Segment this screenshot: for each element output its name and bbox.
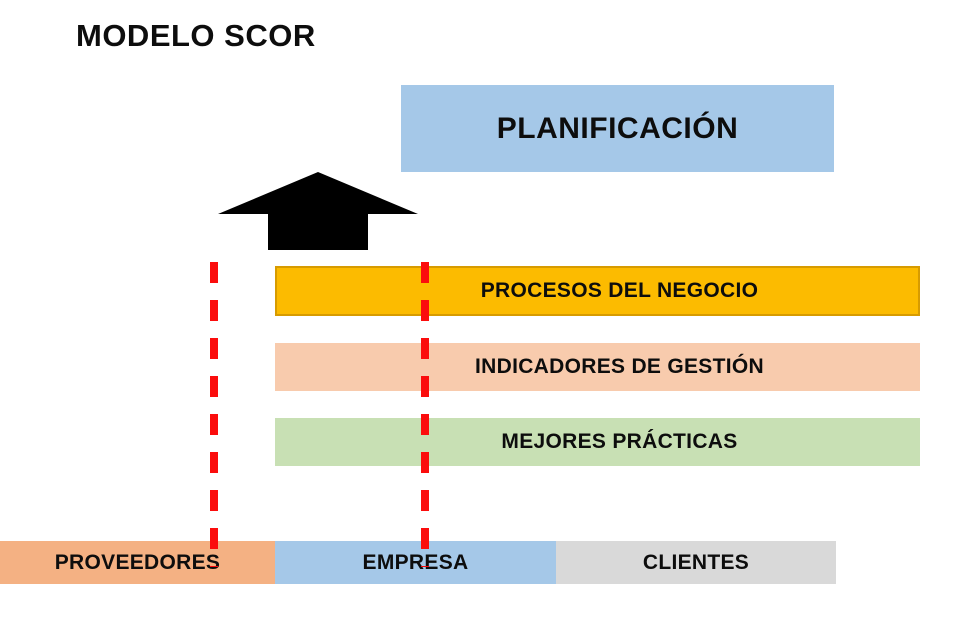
chain-segment-suppliers: PROVEEDORES xyxy=(0,541,275,584)
boundary-line-company-customer xyxy=(421,262,429,567)
chain-label-customers: CLIENTES xyxy=(643,551,749,575)
planning-label: PLANIFICACIÓN xyxy=(497,112,739,146)
chain-label-suppliers: PROVEEDORES xyxy=(55,551,221,575)
layer-label-practices: MEJORES PRÁCTICAS xyxy=(501,430,737,454)
layer-bar-practices: MEJORES PRÁCTICAS xyxy=(275,418,920,466)
chain-segment-customers: CLIENTES xyxy=(556,541,836,584)
planning-box: PLANIFICACIÓN xyxy=(401,85,834,172)
chain-segment-company: EMPRESA xyxy=(275,541,556,584)
page-title: MODELO SCOR xyxy=(76,18,316,54)
scor-diagram-canvas: MODELO SCOR PLANIFICACIÓN PROCESOS DEL N… xyxy=(0,0,968,633)
layer-bar-processes: PROCESOS DEL NEGOCIO xyxy=(275,266,920,316)
supply-chain-row: PROVEEDORES EMPRESA CLIENTES xyxy=(0,541,836,584)
chain-label-company: EMPRESA xyxy=(363,551,469,575)
up-arrow-icon xyxy=(216,170,420,252)
boundary-line-supplier-company xyxy=(210,262,218,567)
layer-label-processes: PROCESOS DEL NEGOCIO xyxy=(481,279,759,303)
layer-bar-indicators: INDICADORES DE GESTIÓN xyxy=(275,343,920,391)
layer-label-indicators: INDICADORES DE GESTIÓN xyxy=(475,355,764,379)
